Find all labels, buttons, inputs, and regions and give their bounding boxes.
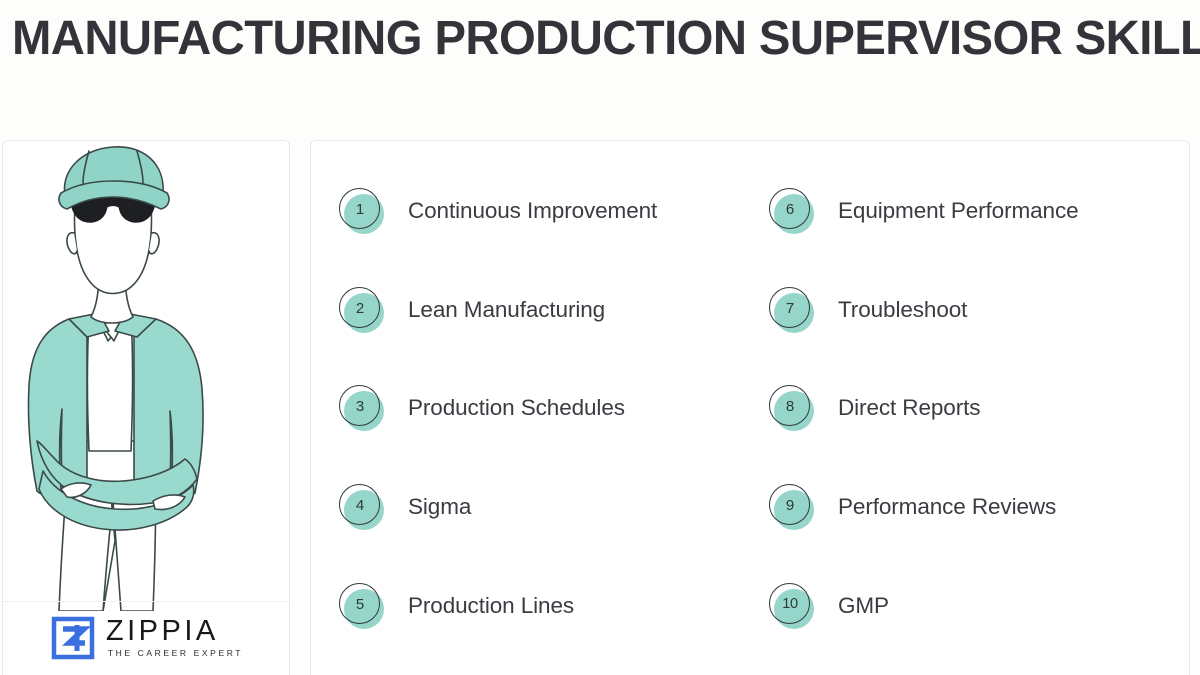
zippia-logo[interactable]: ZIPPIA THE CAREER EXPERT: [3, 601, 290, 667]
list-item[interactable]: 8 Direct Reports: [769, 382, 980, 434]
list-item[interactable]: 6 Equipment Performance: [769, 185, 1079, 237]
skill-number: 4: [339, 484, 381, 526]
skill-label: Lean Manufacturing: [408, 297, 605, 323]
list-item[interactable]: 2 Lean Manufacturing: [339, 284, 605, 336]
list-item[interactable]: 10 GMP: [769, 580, 889, 632]
skill-label: Production Lines: [408, 593, 574, 619]
skill-number: 10: [769, 583, 811, 625]
skill-label: Direct Reports: [838, 395, 980, 421]
list-item[interactable]: 1 Continuous Improvement: [339, 185, 657, 237]
zippia-z-mark-icon: [51, 616, 95, 660]
list-item[interactable]: 3 Production Schedules: [339, 382, 625, 434]
skill-number-badge: 6: [769, 188, 815, 234]
skill-label: Continuous Improvement: [408, 198, 657, 224]
skill-number: 1: [339, 188, 381, 230]
skill-number: 7: [769, 287, 811, 329]
skill-number-badge: 3: [339, 385, 385, 431]
skill-label: Production Schedules: [408, 395, 625, 421]
skill-number-badge: 4: [339, 484, 385, 530]
production-supervisor-illustration: [3, 141, 290, 611]
illustration-panel: ZIPPIA THE CAREER EXPERT: [2, 140, 290, 675]
list-item[interactable]: 7 Troubleshoot: [769, 284, 967, 336]
skill-label: Performance Reviews: [838, 494, 1056, 520]
skill-number-badge: 8: [769, 385, 815, 431]
zippia-tagline: THE CAREER EXPERT: [108, 649, 243, 658]
skill-number: 9: [769, 484, 811, 526]
skill-number-badge: 2: [339, 287, 385, 333]
skill-label: GMP: [838, 593, 889, 619]
skill-label: Sigma: [408, 494, 471, 520]
skill-label: Equipment Performance: [838, 198, 1079, 224]
list-item[interactable]: 4 Sigma: [339, 481, 471, 533]
zippia-wordmark: ZIPPIA: [106, 617, 243, 647]
skill-number-badge: 10: [769, 583, 815, 629]
skill-number-badge: 1: [339, 188, 385, 234]
skill-number: 3: [339, 385, 381, 427]
skill-number: 2: [339, 287, 381, 329]
skill-number-badge: 5: [339, 583, 385, 629]
list-item[interactable]: 5 Production Lines: [339, 580, 574, 632]
skills-panel: 1 Continuous Improvement 2 Lean Manufact…: [310, 140, 1190, 675]
skill-number: 5: [339, 583, 381, 625]
page-title: MANUFACTURING PRODUCTION SUPERVISOR SKIL…: [12, 8, 1174, 70]
skill-number-badge: 9: [769, 484, 815, 530]
skill-number: 8: [769, 385, 811, 427]
skill-number: 6: [769, 188, 811, 230]
skill-number-badge: 7: [769, 287, 815, 333]
skill-label: Troubleshoot: [838, 297, 967, 323]
list-item[interactable]: 9 Performance Reviews: [769, 481, 1056, 533]
